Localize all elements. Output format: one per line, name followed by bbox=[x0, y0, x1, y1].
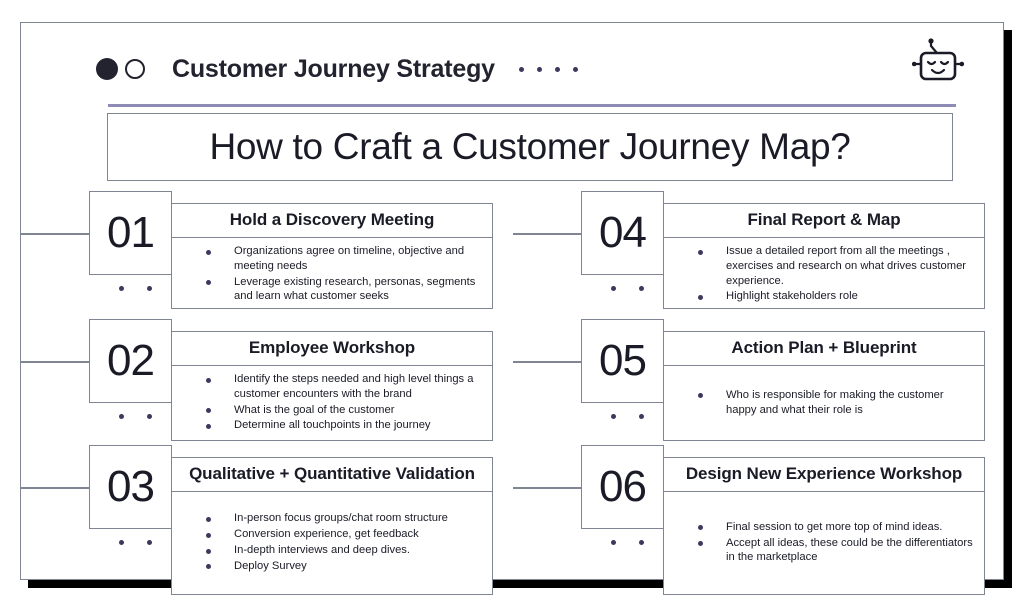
step-card-03[interactable]: 03 Qualitative + Quantitative Validation… bbox=[1, 445, 493, 563]
step-number: 03 bbox=[107, 465, 154, 509]
decoration-dot bbox=[639, 286, 644, 291]
slide-card: Customer Journey Strategy bbox=[20, 22, 1004, 580]
step-card-02[interactable]: 02 Employee Workshop Identify the steps … bbox=[1, 319, 493, 437]
bullet-item: In-person focus groups/chat room structu… bbox=[234, 511, 482, 526]
decoration-dot bbox=[119, 540, 124, 545]
step-number: 02 bbox=[107, 339, 154, 383]
bullet-item: What is the goal of the customer bbox=[234, 403, 482, 418]
header-divider bbox=[108, 104, 956, 107]
step-title: Qualitative + Quantitative Validation bbox=[172, 458, 492, 492]
bullet-item: Accept all ideas, these could be the dif… bbox=[726, 536, 974, 566]
step-card-06[interactable]: 06 Design New Experience Workshop Final … bbox=[493, 445, 985, 563]
bullet-item: Highlight stakeholders role bbox=[726, 289, 974, 304]
step-number-box: 06 bbox=[581, 445, 664, 529]
header-title: Customer Journey Strategy bbox=[172, 55, 495, 84]
title-banner: How to Craft a Customer Journey Map? bbox=[107, 113, 953, 181]
decoration-dot bbox=[639, 540, 644, 545]
header-dot bbox=[573, 67, 578, 72]
step-bullets: Who is responsible for making the custom… bbox=[664, 366, 984, 440]
decoration-dot bbox=[611, 414, 616, 419]
header-dot bbox=[537, 67, 542, 72]
bullet-item: Conversion experience, get feedback bbox=[234, 527, 482, 542]
step-bullets: Identify the steps needed and high level… bbox=[172, 366, 492, 440]
step-number-box: 02 bbox=[89, 319, 172, 403]
step-content-box: Employee Workshop Identify the steps nee… bbox=[171, 331, 493, 441]
bullet-item: Final session to get more top of mind id… bbox=[726, 520, 974, 535]
step-number-box: 05 bbox=[581, 319, 664, 403]
decoration-dot bbox=[147, 540, 152, 545]
step-bullets: Organizations agree on timeline, objecti… bbox=[172, 238, 492, 311]
header-bar: Customer Journey Strategy bbox=[96, 43, 966, 95]
step-content-box: Action Plan + Blueprint Who is responsib… bbox=[663, 331, 985, 441]
bullet-item: In-depth interviews and deep dives. bbox=[234, 543, 482, 558]
filled-circle-icon bbox=[96, 58, 118, 80]
page-title: How to Craft a Customer Journey Map? bbox=[209, 126, 850, 168]
step-number-box: 04 bbox=[581, 191, 664, 275]
bullet-item: Identify the steps needed and high level… bbox=[234, 372, 482, 402]
decoration-dot bbox=[119, 414, 124, 419]
bullet-item: Issue a detailed report from all the mee… bbox=[726, 244, 974, 288]
decoration-dot bbox=[147, 414, 152, 419]
step-bullets: Issue a detailed report from all the mee… bbox=[664, 238, 984, 311]
step-number: 05 bbox=[599, 339, 646, 383]
step-number: 06 bbox=[599, 465, 646, 509]
header-dots-decoration bbox=[519, 67, 578, 72]
step-bullets: Final session to get more top of mind id… bbox=[664, 492, 984, 594]
step-content-box: Hold a Discovery Meeting Organizations a… bbox=[171, 203, 493, 309]
decoration-dot bbox=[639, 414, 644, 419]
step-number-box: 03 bbox=[89, 445, 172, 529]
decoration-dot bbox=[119, 286, 124, 291]
step-card-05[interactable]: 05 Action Plan + Blueprint Who is respon… bbox=[493, 319, 985, 437]
step-title: Hold a Discovery Meeting bbox=[172, 204, 492, 238]
bullet-item: Deploy Survey bbox=[234, 559, 482, 574]
step-card-01[interactable]: 01 Hold a Discovery Meeting Organization… bbox=[1, 191, 493, 309]
bullet-item: Leverage existing research, personas, se… bbox=[234, 275, 482, 305]
step-number: 04 bbox=[599, 211, 646, 255]
step-title: Employee Workshop bbox=[172, 332, 492, 366]
step-bullets: In-person focus groups/chat room structu… bbox=[172, 492, 492, 594]
bullet-item: Who is responsible for making the custom… bbox=[726, 388, 974, 418]
hollow-circle-icon bbox=[125, 59, 145, 79]
step-title: Design New Experience Workshop bbox=[664, 458, 984, 492]
step-title: Action Plan + Blueprint bbox=[664, 332, 984, 366]
step-card-04[interactable]: 04 Final Report & Map Issue a detailed r… bbox=[493, 191, 985, 309]
header-dot bbox=[555, 67, 560, 72]
decoration-dot bbox=[611, 540, 616, 545]
step-number: 01 bbox=[107, 211, 154, 255]
step-content-box: Qualitative + Quantitative Validation In… bbox=[171, 457, 493, 595]
decoration-dot bbox=[611, 286, 616, 291]
bullet-item: Organizations agree on timeline, objecti… bbox=[234, 244, 482, 274]
step-number-box: 01 bbox=[89, 191, 172, 275]
step-title: Final Report & Map bbox=[664, 204, 984, 238]
bullet-item: Determine all touchpoints in the journey bbox=[234, 418, 482, 433]
header-dot bbox=[519, 67, 524, 72]
decoration-dot bbox=[147, 286, 152, 291]
step-content-box: Design New Experience Workshop Final ses… bbox=[663, 457, 985, 595]
step-content-box: Final Report & Map Issue a detailed repo… bbox=[663, 203, 985, 309]
robot-head-icon bbox=[911, 37, 965, 98]
